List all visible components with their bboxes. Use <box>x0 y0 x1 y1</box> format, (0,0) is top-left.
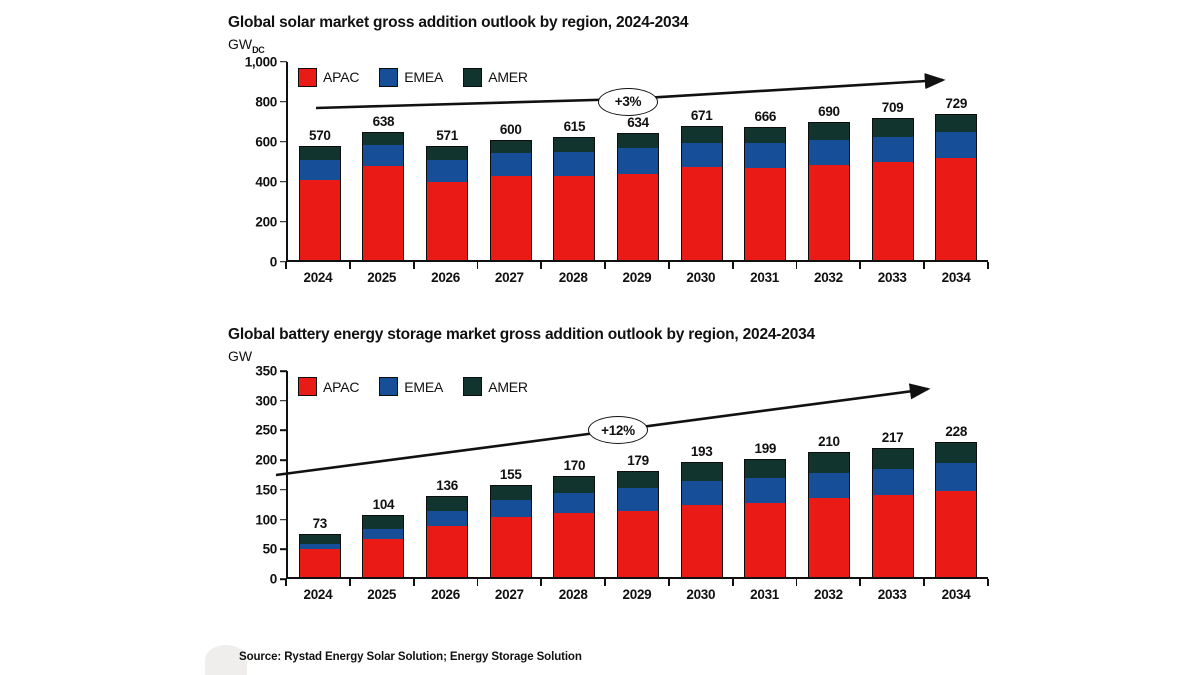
x-tick-mark <box>414 262 478 269</box>
battery-growth-callout: +12% <box>588 416 648 444</box>
bar-segment-amer[interactable] <box>809 123 849 140</box>
y-tick-label: 400 <box>255 174 277 189</box>
x-tick-mark <box>733 579 797 586</box>
x-tick-mark <box>860 579 924 586</box>
x-tick-label: 2028 <box>541 587 605 602</box>
bar-total-label: 170 <box>564 458 586 473</box>
bar-segment-emea[interactable] <box>745 478 785 503</box>
legend-label: AMER <box>488 69 528 85</box>
bar-segment-apac[interactable] <box>491 517 531 578</box>
stacked-bar[interactable]: 210 <box>808 452 850 579</box>
bar-segment-amer[interactable] <box>554 477 594 493</box>
bar-total-label: 638 <box>373 114 395 129</box>
bar-segment-apac[interactable] <box>363 539 403 578</box>
x-tick-label: 2033 <box>860 587 924 602</box>
bar-slot[interactable]: 228 <box>924 371 988 579</box>
bar-total-label: 571 <box>436 128 458 143</box>
x-tick-label: 2025 <box>350 270 414 285</box>
bar-segment-amer[interactable] <box>618 134 658 148</box>
bar-total-label: 671 <box>691 108 713 123</box>
x-tick-label: 2026 <box>414 587 478 602</box>
y-tick-label: 100 <box>255 512 277 527</box>
x-tick-label: 2024 <box>286 587 350 602</box>
x-tick-mark <box>669 579 733 586</box>
bar-segment-apac[interactable] <box>554 513 594 578</box>
x-tick-label: 2028 <box>541 270 605 285</box>
stacked-bar[interactable]: 571 <box>426 146 468 262</box>
y-tick-label: 200 <box>255 453 277 468</box>
bar-segment-apac[interactable] <box>427 182 467 260</box>
legend-item-apac[interactable]: APAC <box>298 68 359 87</box>
bar-total-label: 179 <box>627 453 649 468</box>
bar-segment-amer[interactable] <box>618 472 658 489</box>
bar-total-label: 690 <box>818 104 840 119</box>
bar-segment-apac[interactable] <box>936 158 976 261</box>
bar-segment-apac[interactable] <box>491 176 531 261</box>
bar-segment-apac[interactable] <box>873 495 913 578</box>
bar-segment-amer[interactable] <box>745 128 785 144</box>
bar-slot[interactable]: 136 <box>415 371 479 579</box>
stacked-bar[interactable]: 217 <box>872 448 914 579</box>
bar-segment-amer[interactable] <box>300 147 340 160</box>
bar-total-label: 155 <box>500 467 522 482</box>
bar-slot[interactable]: 666 <box>733 62 797 262</box>
bar-slot[interactable]: 600 <box>479 62 543 262</box>
x-tick-label: 2031 <box>733 587 797 602</box>
legend-item-emea[interactable]: EMEA <box>379 377 443 396</box>
x-tick-label: 2024 <box>286 270 350 285</box>
bar-slot[interactable]: 170 <box>543 371 607 579</box>
bar-segment-emea[interactable] <box>809 473 849 499</box>
solar-unit-main: GW <box>228 36 252 52</box>
legend-label: APAC <box>323 69 359 85</box>
battery-chart-title: Global battery energy storage market gro… <box>228 326 988 344</box>
bar-segment-emea[interactable] <box>427 160 467 182</box>
bar-segment-emea[interactable] <box>936 132 976 158</box>
bar-segment-amer[interactable] <box>363 133 403 145</box>
y-tick-label: 1,000 <box>245 54 277 69</box>
x-tick-label: 2034 <box>924 587 988 602</box>
bar-slot[interactable]: 571 <box>415 62 479 262</box>
x-tick-mark <box>860 262 924 269</box>
solar-plot-area: 02004006008001,000 570638571600615634671… <box>228 62 988 262</box>
x-tick-label: 2027 <box>477 270 541 285</box>
bar-segment-emea[interactable] <box>491 500 531 517</box>
bar-segment-amer[interactable] <box>554 138 594 152</box>
stacked-bar[interactable]: 666 <box>744 127 786 262</box>
legend-swatch-amer <box>463 377 482 396</box>
x-tick-label: 2025 <box>350 587 414 602</box>
x-tick-label: 2034 <box>924 270 988 285</box>
x-tick-mark <box>797 262 861 269</box>
bar-segment-amer[interactable] <box>873 119 913 137</box>
bar-segment-apac[interactable] <box>682 505 722 578</box>
legend-item-amer[interactable]: AMER <box>463 68 528 87</box>
bar-segment-emea[interactable] <box>554 493 594 513</box>
x-tick-mark <box>477 579 541 586</box>
y-tick-label: 600 <box>255 134 277 149</box>
y-tick-label: 350 <box>255 364 277 379</box>
battery-chart-panel: Global battery energy storage market gro… <box>228 326 988 605</box>
stacked-bar[interactable]: 155 <box>490 485 532 579</box>
bar-segment-emea[interactable] <box>873 137 913 162</box>
bar-total-label: 615 <box>564 119 586 134</box>
x-tick-mark <box>286 262 350 269</box>
battery-x-tickmarks <box>286 579 988 586</box>
stacked-bar[interactable]: 709 <box>872 118 914 262</box>
stacked-bar[interactable]: 570 <box>299 146 341 262</box>
stacked-bar[interactable]: 193 <box>681 462 723 579</box>
solar-x-tickmarks <box>286 262 988 269</box>
bar-segment-amer[interactable] <box>682 127 722 143</box>
legend-label: EMEA <box>404 69 443 85</box>
bar-total-label: 73 <box>313 516 327 531</box>
bar-segment-emea[interactable] <box>427 511 467 525</box>
bar-slot[interactable]: 570 <box>288 62 352 262</box>
bar-segment-amer[interactable] <box>300 535 340 544</box>
stacked-bar[interactable]: 228 <box>935 442 977 579</box>
stacked-bar[interactable]: 179 <box>617 471 659 579</box>
x-tick-label: 2032 <box>797 270 861 285</box>
bar-segment-emea[interactable] <box>491 153 531 176</box>
bar-slot[interactable]: 104 <box>352 371 416 579</box>
bar-segment-apac[interactable] <box>809 165 849 261</box>
battery-x-axis-labels: 2024202520262027202820292030203120322033… <box>286 587 988 602</box>
x-tick-mark <box>541 579 605 586</box>
y-tick-label: 50 <box>263 542 277 557</box>
stacked-bar[interactable]: 104 <box>362 515 404 579</box>
bar-slot[interactable]: 638 <box>352 62 416 262</box>
solar-chart-panel: Global solar market gross addition outlo… <box>228 14 988 288</box>
bar-segment-emea[interactable] <box>363 145 403 166</box>
bar-total-label: 199 <box>754 441 776 456</box>
legend-label: EMEA <box>404 379 443 395</box>
y-tick-label: 800 <box>255 94 277 109</box>
y-tick-label: 200 <box>255 214 277 229</box>
legend-label: APAC <box>323 379 359 395</box>
x-tick-mark <box>541 262 605 269</box>
legend-swatch-emea <box>379 377 398 396</box>
bar-segment-amer[interactable] <box>491 141 531 153</box>
bar-segment-emea[interactable] <box>618 148 658 174</box>
bar-segment-emea[interactable] <box>554 152 594 176</box>
bar-slot[interactable]: 709 <box>861 62 925 262</box>
bar-segment-amer[interactable] <box>427 147 467 160</box>
source-note: Source: Rystad Energy Solar Solution; En… <box>239 651 582 663</box>
bar-total-label: 570 <box>309 128 331 143</box>
y-tick-label: 150 <box>255 482 277 497</box>
slide-canvas: Global solar market gross addition outlo… <box>0 0 1200 675</box>
legend-swatch-apac <box>298 377 317 396</box>
bar-segment-amer[interactable] <box>936 115 976 132</box>
bar-segment-apac[interactable] <box>618 174 658 260</box>
bar-segment-amer[interactable] <box>682 463 722 480</box>
bar-segment-apac[interactable] <box>809 498 849 578</box>
bar-total-label: 210 <box>818 434 840 449</box>
x-tick-mark <box>924 579 988 586</box>
bar-slot[interactable]: 155 <box>479 371 543 579</box>
bar-slot[interactable]: 671 <box>670 62 734 262</box>
battery-plot-area: 050100150200250300350 731041361551701791… <box>228 371 988 579</box>
stacked-bar[interactable]: 638 <box>362 132 404 262</box>
x-tick-label: 2033 <box>860 270 924 285</box>
bar-slot[interactable]: 690 <box>797 62 861 262</box>
x-tick-mark <box>414 579 478 586</box>
solar-x-axis-labels: 2024202520262027202820292030203120322033… <box>286 270 988 285</box>
bar-segment-emea[interactable] <box>682 481 722 505</box>
x-tick-label: 2029 <box>605 587 669 602</box>
bar-segment-apac[interactable] <box>554 176 594 261</box>
x-tick-label: 2032 <box>797 587 861 602</box>
bar-total-label: 709 <box>882 100 904 115</box>
bar-total-label: 600 <box>500 122 522 137</box>
x-tick-label: 2026 <box>414 270 478 285</box>
solar-y-axis: 02004006008001,000 <box>228 62 286 262</box>
bar-slot[interactable]: 73 <box>288 371 352 579</box>
bar-segment-apac[interactable] <box>745 503 785 578</box>
legend-swatch-apac <box>298 68 317 87</box>
x-tick-label: 2030 <box>669 587 733 602</box>
bar-total-label: 217 <box>882 430 904 445</box>
bar-total-label: 634 <box>627 115 649 130</box>
battery-legend: APACEMEAAMER <box>298 377 539 396</box>
stacked-bar[interactable]: 615 <box>553 137 595 262</box>
bar-slot[interactable]: 193 <box>670 371 734 579</box>
bar-segment-amer[interactable] <box>873 449 913 469</box>
solar-unit-sub: DC <box>252 45 264 55</box>
x-tick-mark <box>350 262 414 269</box>
solar-chart-title: Global solar market gross addition outlo… <box>228 14 988 32</box>
x-tick-mark <box>605 262 669 269</box>
bar-segment-emea[interactable] <box>618 488 658 511</box>
bar-segment-apac[interactable] <box>363 166 403 261</box>
bar-segment-apac[interactable] <box>300 549 340 578</box>
x-tick-mark <box>733 262 797 269</box>
y-tick-label: 250 <box>255 423 277 438</box>
stacked-bar[interactable]: 136 <box>426 496 468 579</box>
legend-item-apac[interactable]: APAC <box>298 377 359 396</box>
x-tick-mark <box>477 262 541 269</box>
bar-segment-emea[interactable] <box>809 140 849 165</box>
legend-swatch-emea <box>379 68 398 87</box>
bar-segment-apac[interactable] <box>618 511 658 578</box>
battery-y-axis: 050100150200250300350 <box>228 371 286 579</box>
battery-unit-main: GW <box>228 348 252 364</box>
x-tick-label: 2031 <box>733 270 797 285</box>
bar-segment-emea[interactable] <box>682 143 722 167</box>
x-tick-mark <box>924 262 988 269</box>
bar-segment-amer[interactable] <box>809 453 849 473</box>
bar-slot[interactable]: 199 <box>733 371 797 579</box>
stacked-bar[interactable]: 671 <box>681 126 723 262</box>
bar-segment-apac[interactable] <box>936 491 976 578</box>
legend-swatch-amer <box>463 68 482 87</box>
bar-segment-amer[interactable] <box>363 516 403 528</box>
bar-total-label: 193 <box>691 444 713 459</box>
stacked-bar[interactable]: 73 <box>299 534 341 579</box>
legend-item-emea[interactable]: EMEA <box>379 68 443 87</box>
bar-total-label: 104 <box>373 497 395 512</box>
legend-label: AMER <box>488 379 528 395</box>
bar-total-label: 228 <box>945 424 967 439</box>
battery-chart-unit: GW <box>228 348 988 364</box>
battery-bar-group: 73104136155170179193199210217228 <box>288 371 988 579</box>
bar-total-label: 136 <box>436 478 458 493</box>
bar-segment-amer[interactable] <box>491 486 531 500</box>
bar-segment-apac[interactable] <box>745 168 785 261</box>
bar-total-label: 666 <box>754 109 776 124</box>
stacked-bar[interactable]: 170 <box>553 476 595 579</box>
bar-segment-emea[interactable] <box>936 463 976 491</box>
x-tick-mark <box>286 579 350 586</box>
y-tick-label: 300 <box>255 393 277 408</box>
solar-growth-callout: +3% <box>598 88 658 116</box>
bar-total-label: 729 <box>945 96 967 111</box>
stacked-bar[interactable]: 634 <box>617 133 659 262</box>
x-tick-label: 2027 <box>477 587 541 602</box>
x-tick-mark <box>605 579 669 586</box>
bar-segment-apac[interactable] <box>682 167 722 261</box>
bar-slot[interactable]: 217 <box>861 371 925 579</box>
bar-segment-emea[interactable] <box>745 143 785 167</box>
bar-segment-amer[interactable] <box>427 497 467 511</box>
stacked-bar[interactable]: 199 <box>744 459 786 579</box>
solar-legend: APACEMEAAMER <box>298 68 539 87</box>
x-tick-mark <box>350 579 414 586</box>
bar-segment-apac[interactable] <box>300 180 340 261</box>
bar-segment-emea[interactable] <box>363 529 403 540</box>
stacked-bar[interactable]: 600 <box>490 140 532 262</box>
bar-segment-apac[interactable] <box>427 526 467 578</box>
bar-segment-emea[interactable] <box>873 469 913 495</box>
battery-bars-region: 73104136155170179193199210217228 <box>288 371 988 579</box>
bar-segment-apac[interactable] <box>873 162 913 261</box>
x-tick-mark <box>669 262 733 269</box>
bar-slot[interactable]: 615 <box>543 62 607 262</box>
bar-slot[interactable]: 729 <box>924 62 988 262</box>
bar-segment-amer[interactable] <box>745 460 785 478</box>
stacked-bar[interactable]: 729 <box>935 114 977 262</box>
stacked-bar[interactable]: 690 <box>808 122 850 262</box>
bar-segment-amer[interactable] <box>936 443 976 463</box>
solar-chart-unit: GWDC <box>228 36 988 55</box>
x-tick-label: 2029 <box>605 270 669 285</box>
x-tick-label: 2030 <box>669 270 733 285</box>
bar-slot[interactable]: 210 <box>797 371 861 579</box>
legend-item-amer[interactable]: AMER <box>463 377 528 396</box>
x-tick-mark <box>797 579 861 586</box>
bar-segment-emea[interactable] <box>300 160 340 180</box>
bar-slot[interactable]: 179 <box>606 371 670 579</box>
